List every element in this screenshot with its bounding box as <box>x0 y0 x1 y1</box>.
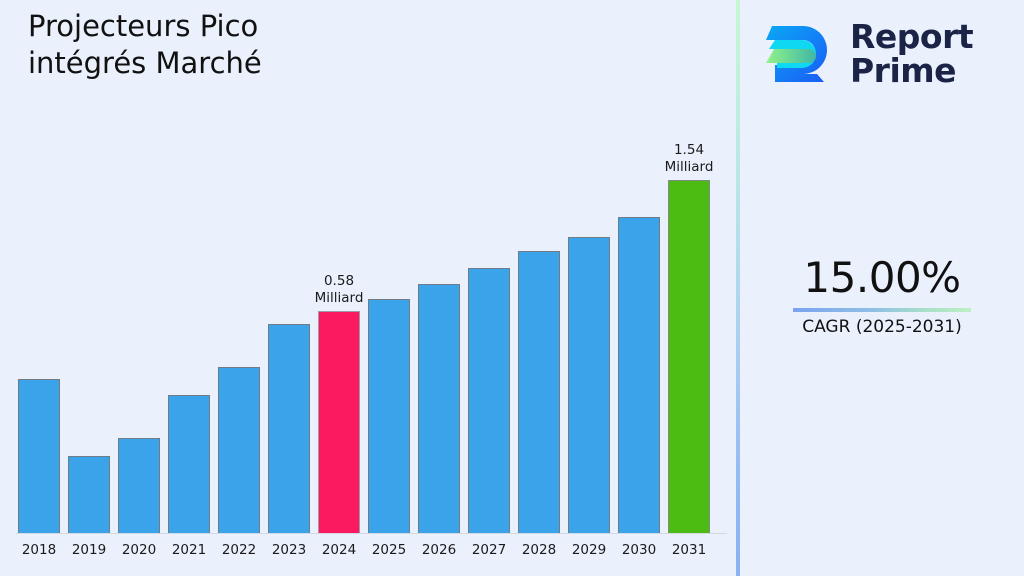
brand-name: Report Prime <box>850 20 973 87</box>
bar-rect-2025 <box>368 299 410 534</box>
x-axis-line <box>16 533 727 534</box>
plot-area: 0.58 Milliard1.54 Milliard <box>0 110 737 534</box>
cagr-block: 15.00% CAGR (2025-2031) <box>740 255 1024 337</box>
x-axis-tick-labels: 2018201920202021202220232024202520262027… <box>0 542 737 566</box>
bar-rect-2030 <box>618 217 660 534</box>
bar-rect-2019 <box>68 456 110 534</box>
bar-chart: 0.58 Milliard1.54 Milliard 2018201920202… <box>0 110 737 576</box>
bar-value-label-2031: 1.54 Milliard <box>654 142 724 176</box>
bar-value-label-2024: 0.58 Milliard <box>304 273 374 307</box>
bar-rect-2023 <box>268 324 310 534</box>
bar-rect-2021 <box>168 395 210 534</box>
bar-rect-2024 <box>318 311 360 534</box>
x-tick-2031: 2031 <box>659 542 719 558</box>
brand-panel: Report Prime 15.00% CAGR (2025-2031) <box>740 0 1024 576</box>
chart-panel: Projecteurs Pico intégrés Marché 0.58 Mi… <box>0 0 737 576</box>
bar-rect-2022 <box>218 367 260 534</box>
report-prime-logo-icon <box>762 20 838 88</box>
bar-rect-2018 <box>18 379 60 534</box>
bar-rect-2027 <box>468 268 510 534</box>
bar-rect-2031 <box>668 180 710 534</box>
bar-rect-2029 <box>568 237 610 534</box>
page-title: Projecteurs Pico intégrés Marché <box>28 8 628 82</box>
bar-rect-2020 <box>118 438 160 534</box>
cagr-value: 15.00% <box>740 255 1024 301</box>
cagr-caption: CAGR (2025-2031) <box>740 317 1024 337</box>
bar-rect-2026 <box>418 284 460 534</box>
brand-logo: Report Prime <box>762 14 1012 94</box>
cagr-divider-rule <box>793 308 971 312</box>
bar-rect-2028 <box>518 251 560 534</box>
